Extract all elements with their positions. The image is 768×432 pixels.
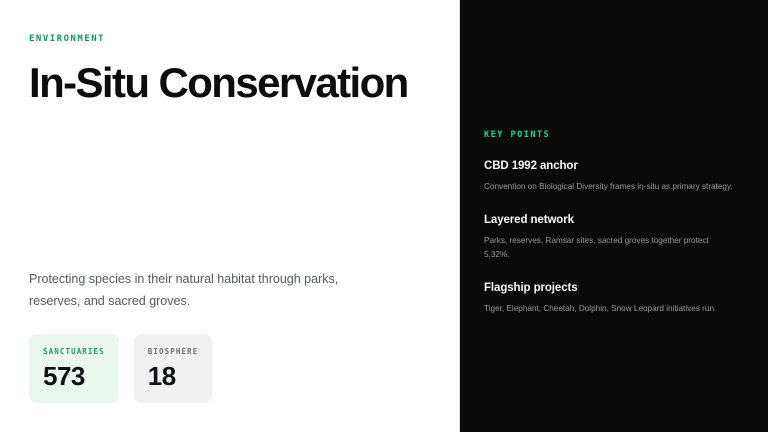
- key-points-section-label: KEY POINTS: [484, 130, 744, 140]
- key-point-description: Tiger, Elephant, Cheetah, Dolphin, Snow …: [484, 302, 734, 315]
- stat-value: 18: [148, 363, 199, 389]
- key-points-panel: KEY POINTS CBD 1992 anchor Convention on…: [459, 0, 768, 432]
- category-eyebrow: ENVIRONMENT: [29, 34, 430, 44]
- stat-label: BIOSPHERE: [148, 347, 199, 356]
- key-point-title: Flagship projects: [484, 282, 744, 294]
- stat-card-group: SANCTUARIES 573 BIOSPHERE 18: [29, 334, 430, 403]
- key-point-item: Layered network Parks, reserves, Ramsar …: [484, 214, 744, 261]
- stat-label: SANCTUARIES: [43, 347, 105, 356]
- key-point-title: Layered network: [484, 214, 744, 226]
- lede-paragraph: Protecting species in their natural habi…: [29, 269, 389, 313]
- key-point-title: CBD 1992 anchor: [484, 160, 744, 172]
- key-point-description: Parks, reserves, Ramsar sites, sacred gr…: [484, 234, 734, 261]
- key-point-description: Convention on Biological Diversity frame…: [484, 180, 734, 193]
- stat-card-sanctuaries: SANCTUARIES 573: [29, 334, 119, 403]
- slide-root: ENVIRONMENT In-Situ Conservation Protect…: [0, 0, 768, 432]
- stat-value: 573: [43, 363, 105, 389]
- left-content-panel: ENVIRONMENT In-Situ Conservation Protect…: [0, 0, 459, 432]
- page-title: In-Situ Conservation: [29, 61, 430, 105]
- stat-card-biosphere: BIOSPHERE 18: [134, 334, 213, 403]
- key-point-item: Flagship projects Tiger, Elephant, Cheet…: [484, 282, 744, 315]
- key-point-item: CBD 1992 anchor Convention on Biological…: [484, 160, 744, 193]
- layout-spacer: [29, 105, 430, 270]
